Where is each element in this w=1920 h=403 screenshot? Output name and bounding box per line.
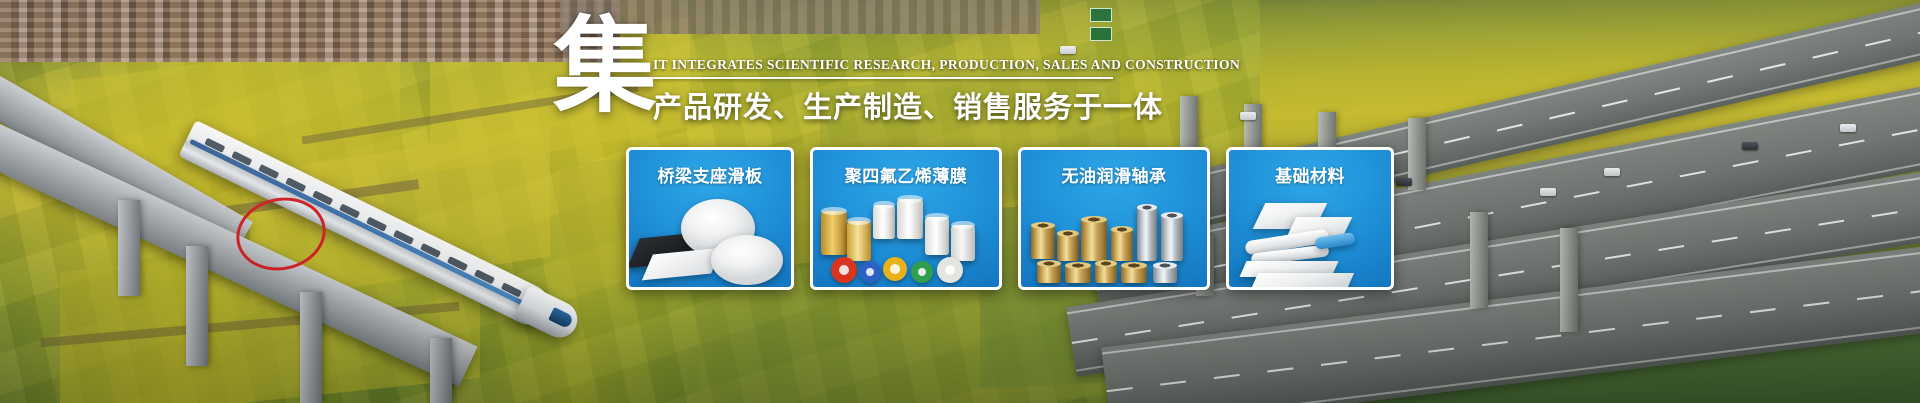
product-card-ptfe-film[interactable]: 聚四氟乙烯薄膜	[810, 147, 1002, 290]
headline-divider-rule	[653, 77, 1113, 79]
headline-chinese-tagline: 产品研发、生产制造、销售服务于一体	[653, 84, 1173, 126]
product-card-bridge-bearing-plate[interactable]: 桥梁支座滑板	[626, 147, 794, 290]
headline-big-character: 集	[553, 14, 657, 118]
headline-english-subtitle: IT INTEGRATES SCIENTIFIC RESEARCH, PRODU…	[653, 58, 1173, 73]
oilless-bearings-icon	[1021, 195, 1207, 287]
ptfe-film-rolls-icon	[813, 195, 999, 287]
hero-banner: 集 IT INTEGRATES SCIENTIFIC RESEARCH, PRO…	[0, 0, 1920, 403]
product-card-title: 无油润滑轴承	[1021, 162, 1207, 187]
product-card-raw-material[interactable]: 基础材料	[1226, 147, 1394, 290]
raw-material-blocks-icon	[1229, 195, 1391, 287]
headline-block: 集 IT INTEGRATES SCIENTIFIC RESEARCH, PRO…	[553, 14, 1173, 134]
product-card-title: 基础材料	[1229, 162, 1391, 187]
headline-text-group: IT INTEGRATES SCIENTIFIC RESEARCH, PRODU…	[653, 58, 1173, 126]
product-card-row: 桥梁支座滑板 聚四氟乙烯薄膜	[626, 147, 1394, 290]
product-card-oilless-bearing[interactable]: 无油润滑轴承	[1018, 147, 1210, 290]
product-card-title: 聚四氟乙烯薄膜	[813, 162, 999, 187]
product-card-title: 桥梁支座滑板	[629, 162, 791, 187]
ptfe-sliding-plates-icon	[629, 195, 791, 287]
